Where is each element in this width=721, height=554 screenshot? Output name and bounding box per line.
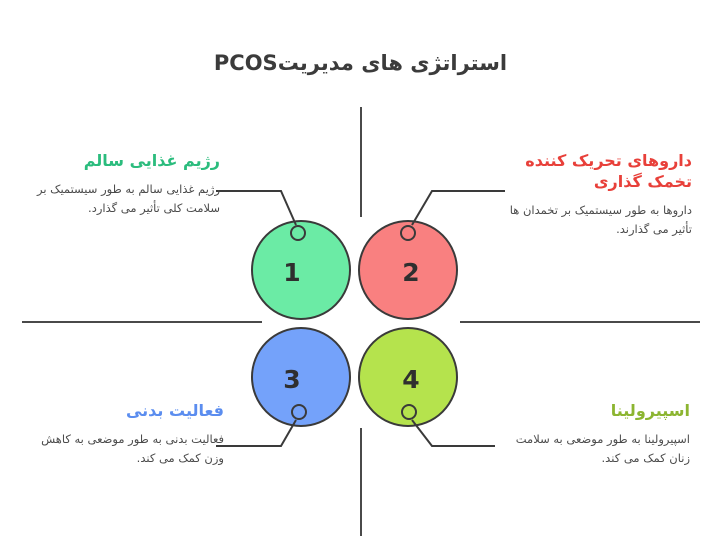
quadrant-bottom-right-body: اسپیرولینا به طور موضعی به سلامت زنان کم… xyxy=(500,430,690,467)
quadrant-top-right-body: داروها به طور سیستمیک بر تخمدان ها تأثیر… xyxy=(492,201,692,238)
quadrant-bottom-left-body: فعالیت بدنی به طور موضعی به کاهش وزن کمک… xyxy=(40,430,224,467)
quadrant-top-left: رژیم غذایی سالم رژیم غذایی سالم به طور س… xyxy=(28,150,220,217)
circle-physical-activity[interactable]: 3 xyxy=(251,327,351,427)
divider-line-left xyxy=(22,321,262,323)
quadrant-top-left-heading: رژیم غذایی سالم xyxy=(28,150,220,171)
quadrant-top-right-heading: داروهای تحریک کننده تخمک گذاری xyxy=(492,150,692,192)
quadrant-bottom-left-heading: فعالیت بدنی xyxy=(40,400,224,421)
quadrant-bottom-right: اسپیرولینا اسپیرولینا به طور موضعی به سل… xyxy=(500,400,690,467)
connector-line-top-left xyxy=(216,191,296,225)
circle-number-2: 2 xyxy=(402,258,419,287)
infographic-canvas: استراتژی های مدیریتPCOS 1 2 3 4 رژیم غذا… xyxy=(0,0,721,554)
quadrant-top-right: داروهای تحریک کننده تخمک گذاری داروها به… xyxy=(492,150,692,238)
quadrant-top-left-body: رژیم غذایی سالم به طور سیستمیک بر سلامت … xyxy=(28,180,220,217)
divider-line-top xyxy=(360,107,362,217)
circle-healthy-diet[interactable]: 1 xyxy=(251,220,351,320)
circle-spirulina[interactable]: 4 xyxy=(358,327,458,427)
circle-number-3: 3 xyxy=(283,365,300,394)
circle-number-4: 4 xyxy=(402,365,419,394)
divider-line-right xyxy=(460,321,700,323)
quadrant-bottom-left: فعالیت بدنی فعالیت بدنی به طور موضعی به … xyxy=(40,400,224,467)
quadrant-bottom-right-heading: اسپیرولینا xyxy=(500,400,690,421)
circle-ovulation-drugs[interactable]: 2 xyxy=(358,220,458,320)
circle-number-1: 1 xyxy=(283,258,300,287)
page-title: استراتژی های مدیریتPCOS xyxy=(0,50,721,77)
divider-line-bottom xyxy=(360,428,362,536)
